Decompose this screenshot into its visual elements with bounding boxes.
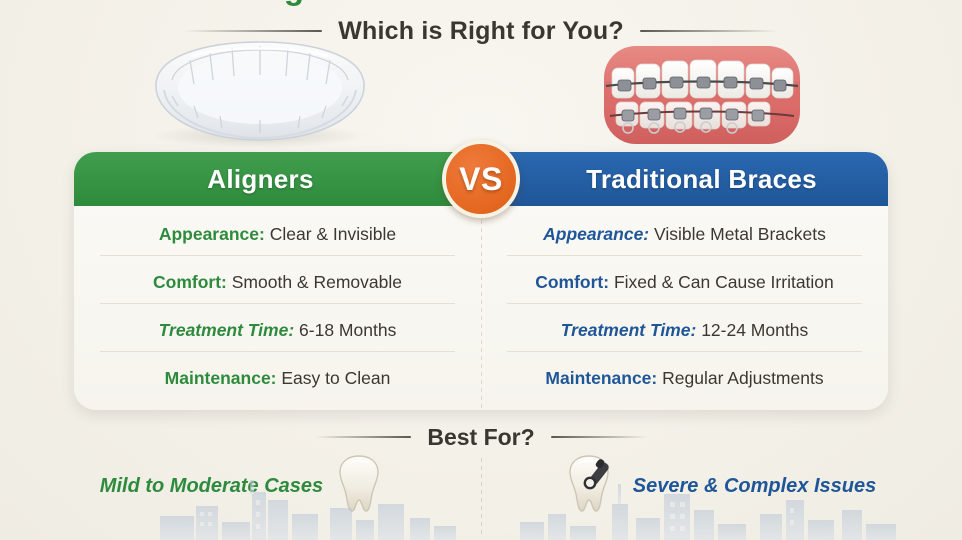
spec-value: 12-24 Months [701, 320, 808, 340]
spec-value: Fixed & Can Cause Irritation [614, 272, 834, 292]
vs-badge: VS [442, 140, 520, 218]
page-title: Aligners vs Traditional Braces [0, 0, 962, 10]
best-for-label-left: Mild to Moderate Cases [100, 475, 323, 498]
braces-teeth-image [596, 40, 808, 155]
spec-value: Clear & Invisible [270, 224, 396, 244]
subtitle-rule-right [640, 30, 778, 32]
aligners-banner: Aligners [74, 152, 481, 206]
best-for-item-braces: Severe & Complex Issues [481, 453, 962, 520]
spec-label: Maintenance: [545, 368, 657, 388]
best-for-label-right: Severe & Complex Issues [633, 475, 876, 498]
aligners-column: Appearance: Clear & Invisible Comfort: S… [74, 206, 481, 410]
spec-label: Comfort: [535, 272, 609, 292]
best-for-item-aligners: Mild to Moderate Cases [0, 453, 481, 520]
spec-value: Regular Adjustments [662, 368, 823, 388]
spec-row: Maintenance: Easy to Clean [100, 359, 455, 399]
spec-row: Treatment Time: 12-24 Months [507, 311, 862, 352]
best-for-title: Best For? [427, 424, 534, 451]
spec-row: Maintenance: Regular Adjustments [507, 359, 862, 399]
page-title-dark-part: vs Traditional Braces [385, 0, 721, 7]
infographic-page: Aligners vs Traditional Braces Which is … [0, 0, 962, 540]
spec-value: 6-18 Months [299, 320, 396, 340]
spec-row: Appearance: Clear & Invisible [100, 215, 455, 256]
best-for-items: Mild to Moderate Cases [0, 455, 962, 517]
braces-banner: Traditional Braces [481, 152, 888, 206]
spec-label: Comfort: [153, 272, 227, 292]
clear-aligner-tray-image [132, 40, 387, 153]
spec-row: Treatment Time: 6-18 Months [100, 311, 455, 352]
comparison-card: Aligners Traditional Braces VS Appearanc… [74, 152, 888, 410]
spec-row: Comfort: Smooth & Removable [100, 263, 455, 304]
column-divider [481, 212, 482, 408]
spec-value: Smooth & Removable [232, 272, 402, 292]
subtitle-rule-left [184, 30, 322, 32]
spec-value: Easy to Clean [281, 368, 390, 388]
spec-label: Treatment Time: [159, 320, 295, 340]
tooth-with-dental-tool-icon [567, 453, 619, 520]
best-for-rule-right [551, 436, 647, 438]
spec-label: Appearance: [543, 224, 649, 244]
page-title-green-part: Aligners [241, 0, 375, 7]
spec-label: Treatment Time: [561, 320, 697, 340]
braces-column: Appearance: Visible Metal Brackets Comfo… [481, 206, 888, 410]
best-for-heading-row: Best For? [0, 420, 962, 454]
spec-row: Comfort: Fixed & Can Cause Irritation [507, 263, 862, 304]
spec-label: Appearance: [159, 224, 265, 244]
spec-row: Appearance: Visible Metal Brackets [507, 215, 862, 256]
spec-value: Visible Metal Brackets [654, 224, 826, 244]
tooth-icon [337, 453, 381, 520]
best-for-rule-left [315, 436, 411, 438]
spec-label: Maintenance: [165, 368, 277, 388]
